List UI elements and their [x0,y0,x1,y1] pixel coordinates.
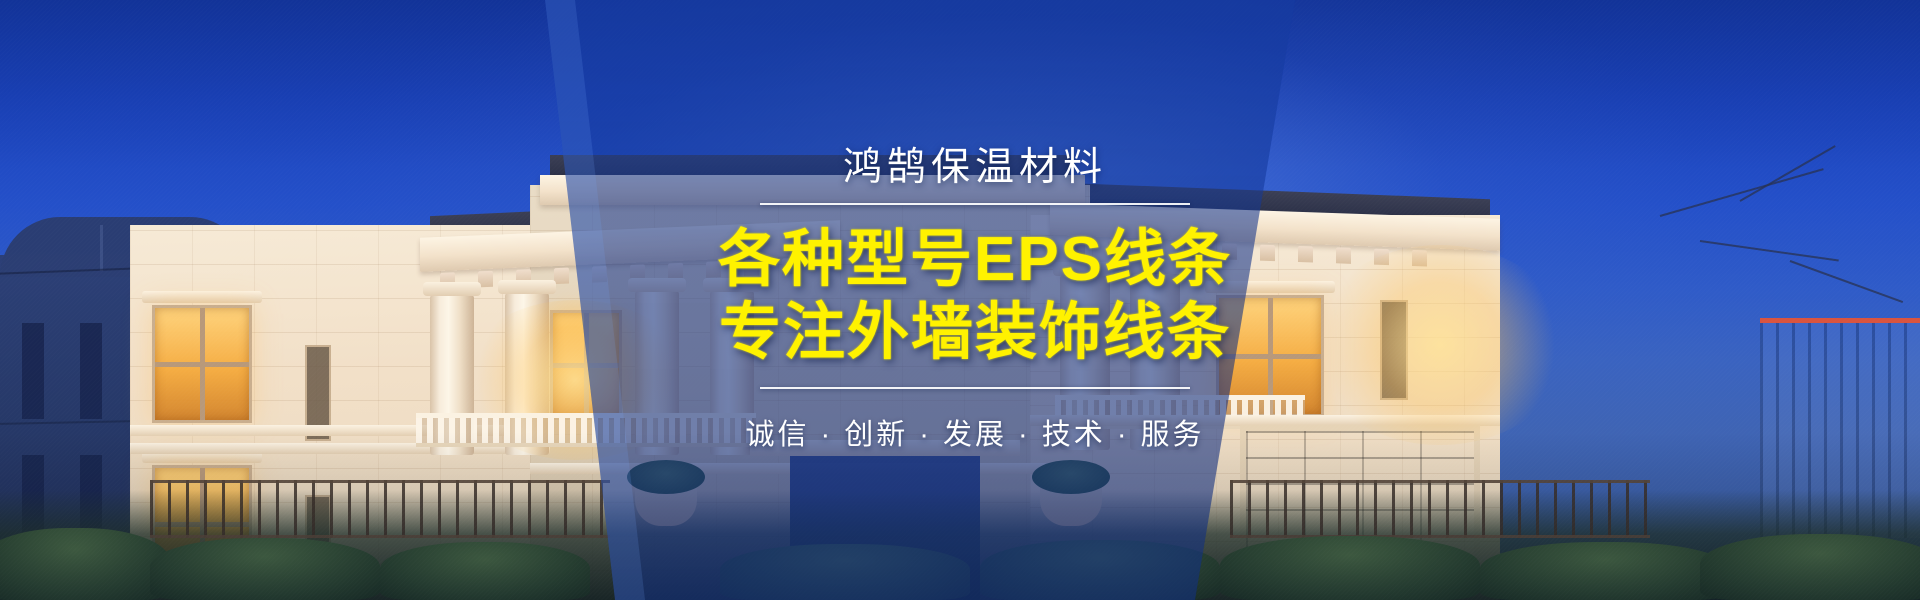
divider-bottom [760,387,1190,389]
headline-line-1: 各种型号EPS线条 [595,227,1355,294]
banner-copy: 鸿鹄保温材料 各种型号EPS线条 专注外墙装饰线条 诚信 · 创新 · 发展 ·… [595,147,1355,454]
brand-name: 鸿鹄保温材料 [595,147,1355,190]
headline-line-2: 专注外墙装饰线条 [595,300,1355,367]
hero-banner: 鸿鹄保温材料 各种型号EPS线条 专注外墙装饰线条 诚信 · 创新 · 发展 ·… [0,0,1920,600]
banner-content: 鸿鹄保温材料 各种型号EPS线条 专注外墙装饰线条 诚信 · 创新 · 发展 ·… [0,0,1920,600]
tagline: 诚信 · 创新 · 发展 · 技术 · 服务 [595,411,1355,453]
divider-top [760,203,1190,205]
